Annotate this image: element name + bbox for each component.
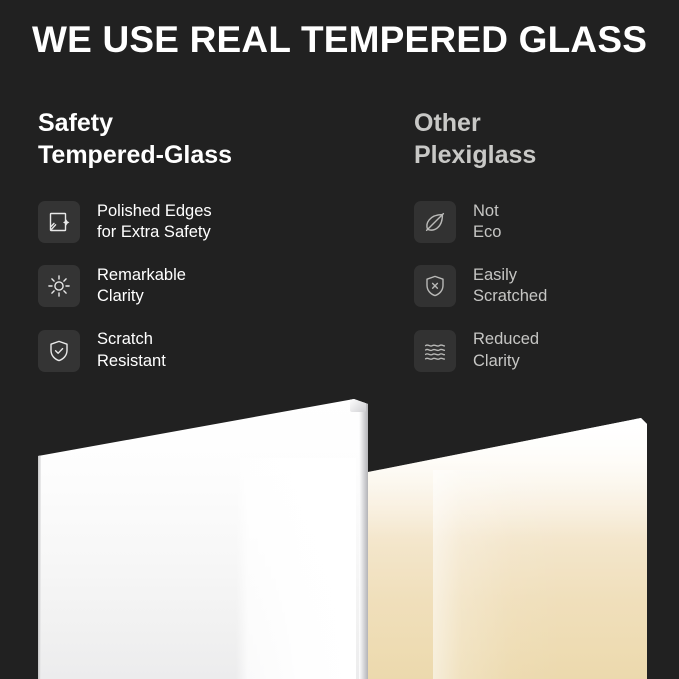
feature-list-tempered-glass: Polished Edges for Extra Safety Remarkab…: [38, 201, 368, 372]
tempered-glass-panel: [36, 396, 368, 679]
sun-clarity-icon: [38, 265, 80, 307]
tempered-glass-right-edge: [359, 402, 368, 679]
feature-label-remarkable-clarity: Remarkable Clarity: [97, 265, 186, 307]
feature-label-scratch-resistant: Scratch Resistant: [97, 329, 166, 371]
feature-row-easily-scratched: Easily Scratched: [414, 265, 674, 307]
feature-row-scratch-resistant: Scratch Resistant: [38, 329, 368, 371]
glass-panels-scene: [0, 396, 679, 679]
shield-x-icon: [414, 265, 456, 307]
feature-label-reduced-clarity: Reduced Clarity: [473, 329, 539, 371]
feature-list-plexiglass: Not Eco Easily Scratched: [414, 201, 674, 372]
page-title: WE USE REAL TEMPERED GLASS: [32, 20, 662, 61]
plexiglass-right-edge: [673, 424, 679, 679]
feature-row-remarkable-clarity: Remarkable Clarity: [38, 265, 368, 307]
polished-edge-icon: [38, 201, 80, 243]
tempered-glass-left-edge: [36, 454, 41, 679]
feature-label-polished-edges: Polished Edges for Extra Safety: [97, 201, 212, 243]
tempered-glass-corner-highlight: [350, 398, 366, 412]
column-heading-tempered-glass: Safety Tempered-Glass: [38, 108, 368, 171]
feature-row-not-eco: Not Eco: [414, 201, 674, 243]
wavy-lines-icon: [414, 330, 456, 372]
leaf-crossed-icon: [414, 201, 456, 243]
comparison-column-tempered-glass: Safety Tempered-Glass Polished Edges for…: [38, 108, 368, 394]
feature-row-reduced-clarity: Reduced Clarity: [414, 329, 674, 371]
comparison-column-plexiglass: Other Plexiglass Not Eco: [414, 108, 674, 394]
feature-row-polished-edges: Polished Edges for Extra Safety: [38, 201, 368, 243]
tempered-glass-top-edge: [38, 396, 368, 460]
feature-label-not-eco: Not Eco: [473, 201, 501, 243]
shield-check-icon: [38, 330, 80, 372]
plexiglass-reflection: [433, 470, 563, 679]
tempered-glass-reflection: [236, 458, 356, 679]
infographic-root: WE USE REAL TEMPERED GLASS Safety Temper…: [0, 0, 679, 679]
plexiglass-panel: [355, 418, 679, 679]
column-heading-plexiglass: Other Plexiglass: [414, 108, 674, 171]
feature-label-easily-scratched: Easily Scratched: [473, 265, 547, 307]
